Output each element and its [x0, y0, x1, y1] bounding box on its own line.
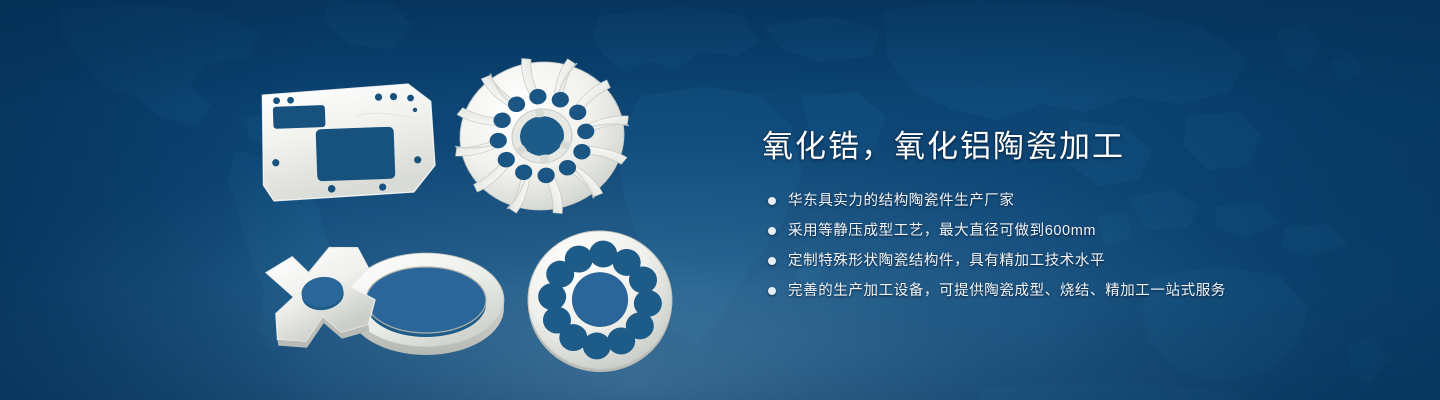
bullet-dot-icon [768, 257, 776, 265]
ceramic-impeller [442, 44, 642, 224]
feature-text: 完善的生产加工设备，可提供陶瓷成型、烧结、精加工一站式服务 [788, 280, 1226, 302]
bullet-dot-icon [768, 227, 776, 235]
banner-copy: 氧化锆，氧化铝陶瓷加工 华东具实力的结构陶瓷件生产厂家 采用等静压成型工艺，最大… [762, 104, 1402, 310]
feature-text: 采用等静压成型工艺，最大直径可做到600mm [788, 220, 1096, 242]
ceramic-base-plate [250, 70, 460, 210]
ceramic-cross-plate-and-ring [248, 222, 528, 377]
product-collage [0, 0, 720, 400]
hero-banner: 氧化锆，氧化铝陶瓷加工 华东具实力的结构陶瓷件生产厂家 采用等静压成型工艺，最大… [0, 0, 1440, 400]
list-item: 完善的生产加工设备，可提供陶瓷成型、烧结、精加工一站式服务 [762, 280, 1402, 302]
bullet-dot-icon [768, 287, 776, 295]
page-title: 氧化锆，氧化铝陶瓷加工 [762, 125, 1402, 169]
list-item: 定制特殊形状陶瓷结构件，具有精加工技术水平 [762, 250, 1402, 272]
ceramic-perforated-disc [512, 222, 692, 382]
list-item: 华东具实力的结构陶瓷件生产厂家 [762, 190, 1402, 212]
list-item: 采用等静压成型工艺，最大直径可做到600mm [762, 220, 1402, 242]
feature-list: 华东具实力的结构陶瓷件生产厂家 采用等静压成型工艺，最大直径可做到600mm 定… [762, 190, 1402, 302]
feature-text: 华东具实力的结构陶瓷件生产厂家 [788, 190, 1015, 212]
feature-text: 定制特殊形状陶瓷结构件，具有精加工技术水平 [788, 250, 1105, 272]
bullet-dot-icon [768, 197, 776, 205]
